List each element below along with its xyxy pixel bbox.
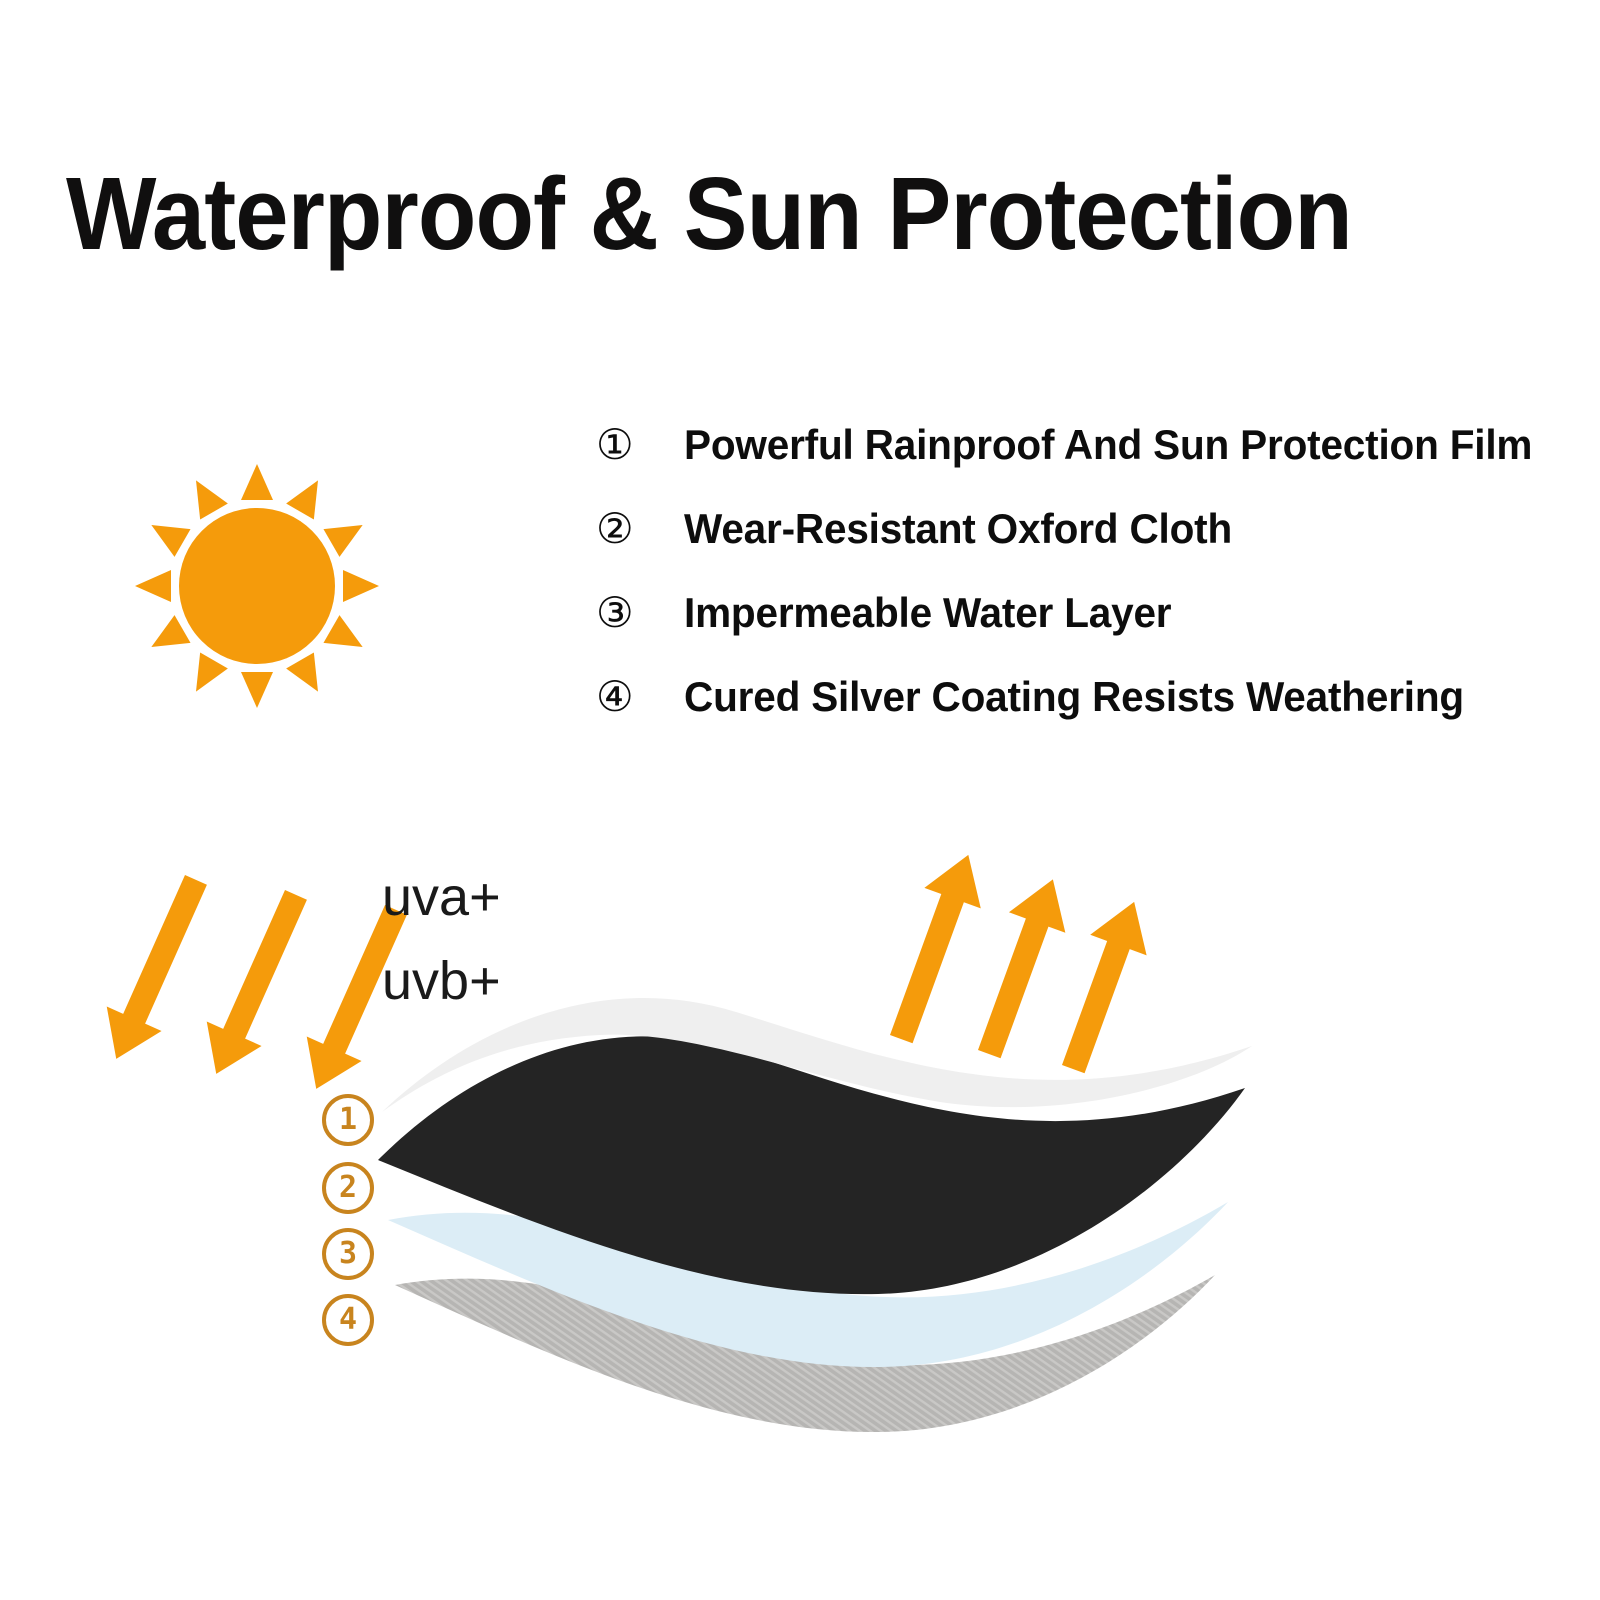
feature-label-2: Wear-Resistant Oxford Cloth — [684, 508, 1232, 550]
circled-number-3-icon: ③ — [596, 592, 684, 634]
uv-reflected-arrows — [873, 845, 1162, 1080]
page-title: Waterproof & Sun Protection — [66, 160, 1442, 268]
feature-item-3: ③ Impermeable Water Layer — [596, 592, 1536, 676]
uvb-label: uvb+ — [382, 950, 501, 1012]
layer-badge-3: 3 — [322, 1228, 374, 1280]
circled-number-2-icon: ② — [596, 508, 684, 550]
layer-badge-2: 2 — [322, 1162, 374, 1214]
circled-number-1-icon: ① — [596, 424, 684, 466]
feature-label-3: Impermeable Water Layer — [684, 592, 1171, 634]
feature-list: ① Powerful Rainproof And Sun Protection … — [596, 424, 1536, 760]
uv-incoming-arrows — [89, 868, 424, 1101]
feature-label-4: Cured Silver Coating Resists Weathering — [684, 676, 1464, 718]
feature-item-1: ① Powerful Rainproof And Sun Protection … — [596, 424, 1536, 508]
uva-label: uva+ — [382, 866, 501, 928]
feature-item-4: ④ Cured Silver Coating Resists Weatherin… — [596, 676, 1536, 760]
feature-label-1: Powerful Rainproof And Sun Protection Fi… — [684, 424, 1532, 466]
layer-badge-4: 4 — [322, 1294, 374, 1346]
feature-item-2: ② Wear-Resistant Oxford Cloth — [596, 508, 1536, 592]
layer-stack-diagram — [0, 820, 1600, 1520]
layer-badge-1: 1 — [322, 1094, 374, 1146]
circled-number-4-icon: ④ — [596, 676, 684, 718]
sun-icon — [112, 458, 402, 714]
